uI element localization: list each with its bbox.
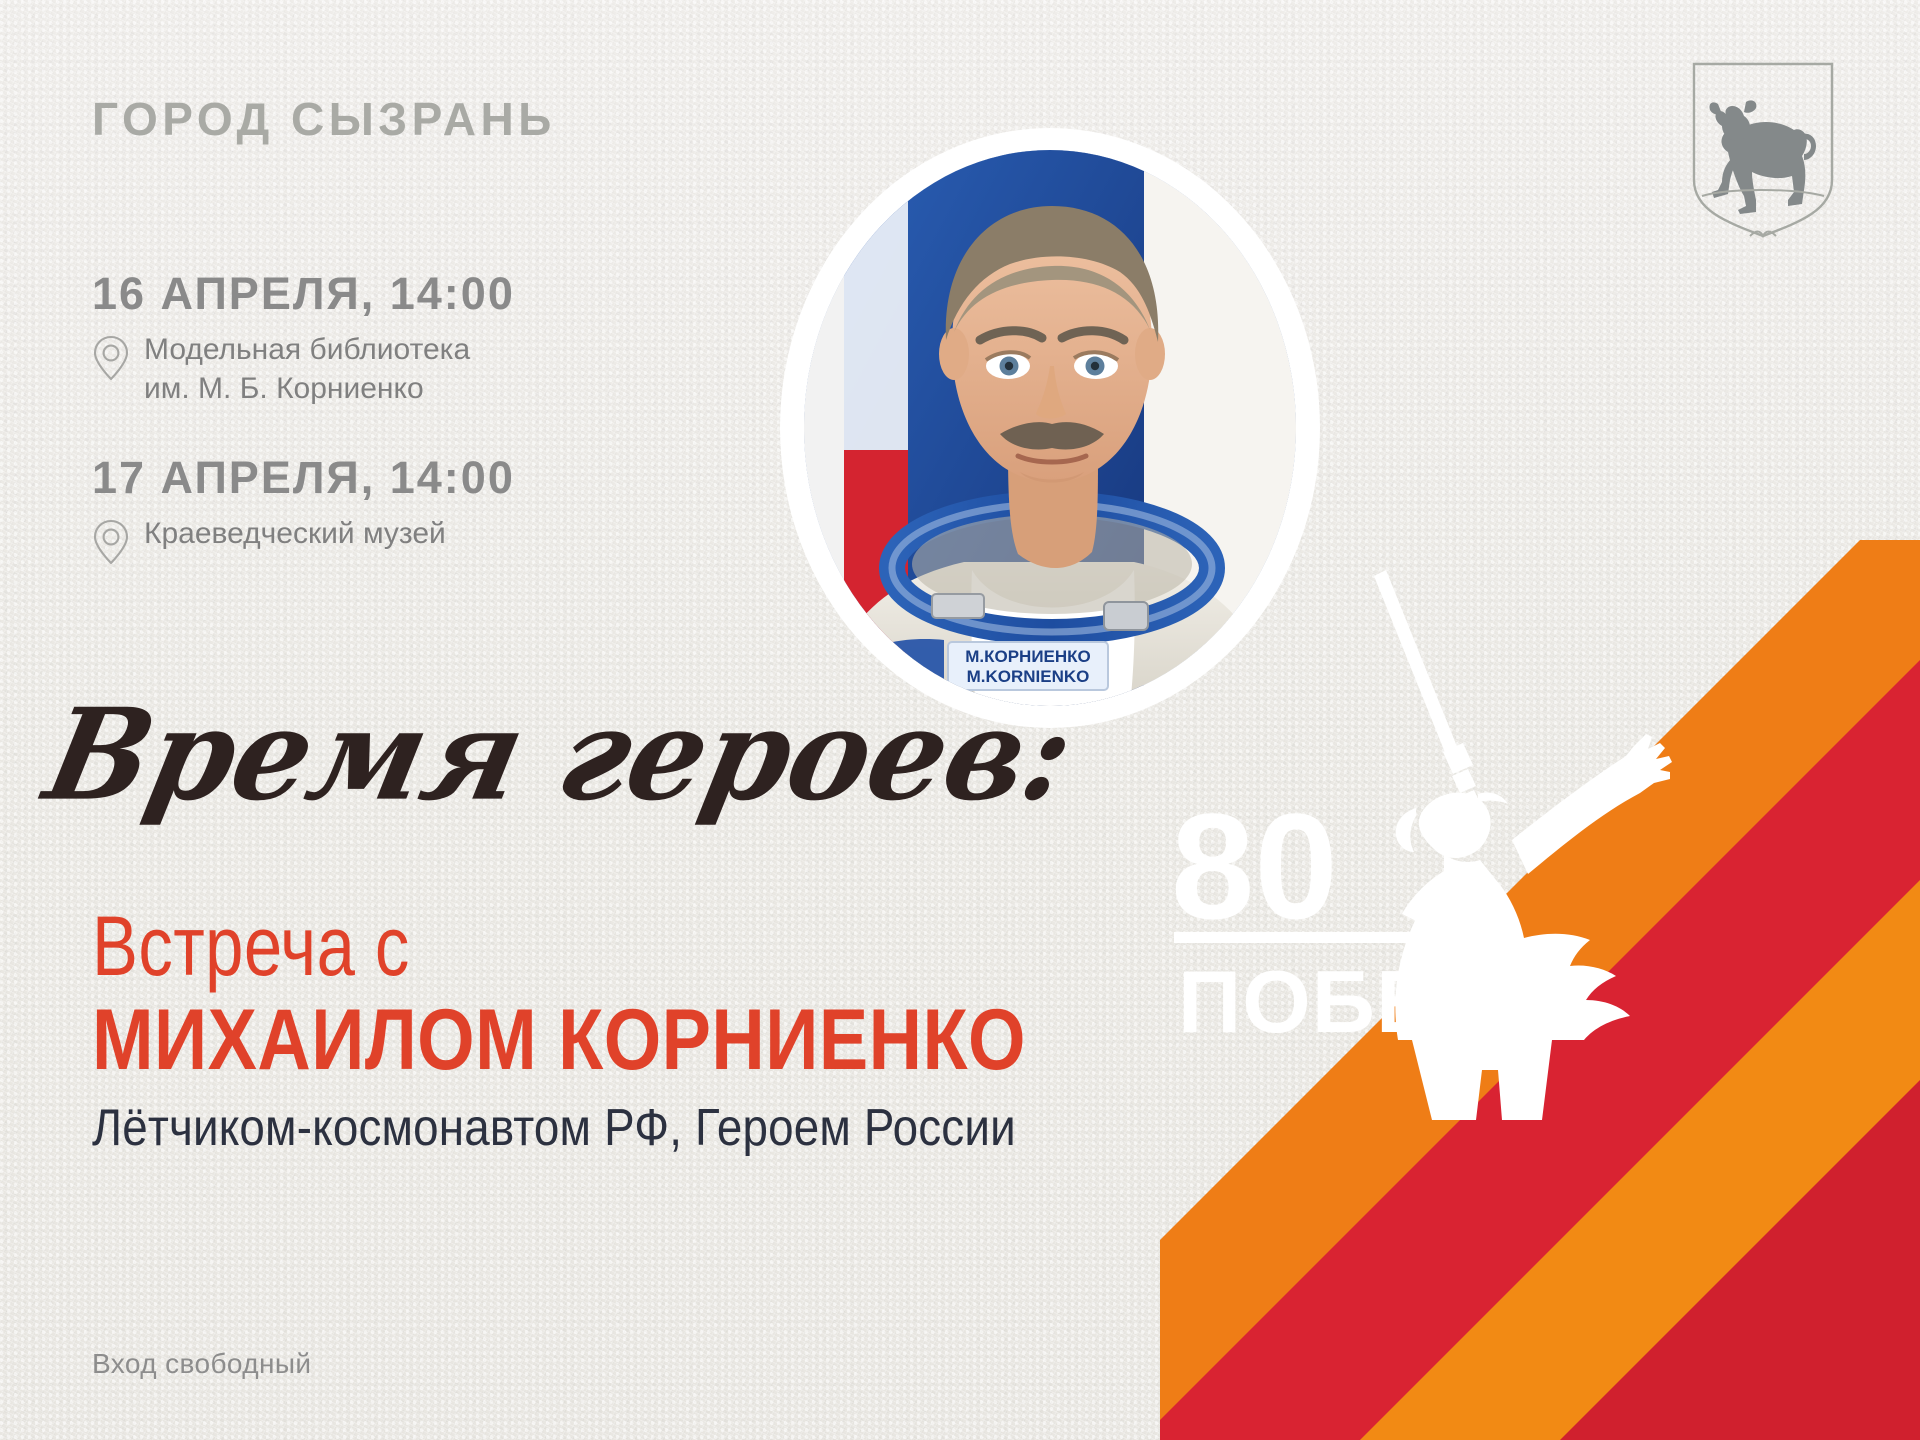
title-subtitle: Лётчиком-космонавтом РФ, Героем России bbox=[92, 1100, 1148, 1157]
free-entry-note: Вход свободный bbox=[92, 1348, 311, 1380]
map-pin-icon bbox=[92, 335, 130, 381]
event-item: 16 АПРЕЛЯ, 14:00 Модельная библиотека им… bbox=[92, 270, 732, 408]
event-date: 17 АПРЕЛЯ, 14:00 bbox=[92, 454, 732, 501]
portrait-illustration: М.КОРНИЕНКО M.KORNIENKO bbox=[804, 150, 1296, 706]
event-item: 17 АПРЕЛЯ, 14:00 Краеведческий музей bbox=[92, 454, 732, 565]
main-title-block: Встреча с МИХАИЛОМ КОРНИЕНКО Лётчиком-ко… bbox=[92, 905, 1292, 1158]
event-list: 16 АПРЕЛЯ, 14:00 Модельная библиотека им… bbox=[92, 270, 732, 603]
event-location: Краеведческий музей bbox=[92, 515, 732, 565]
avatar: М.КОРНИЕНКО M.KORNIENKO bbox=[804, 150, 1296, 706]
crest-svg bbox=[1688, 60, 1838, 240]
event-location: Модельная библиотека им. М. Б. Корниенко bbox=[92, 331, 732, 408]
title-name-line: МИХАИЛОМ КОРНИЕНКО bbox=[92, 995, 1124, 1086]
script-title-svg: Время героев: bbox=[60, 660, 780, 850]
suit-name-badge-line1: М.КОРНИЕНКО bbox=[965, 647, 1091, 666]
page-title-city: ГОРОД СЫЗРАНЬ bbox=[92, 96, 556, 142]
event-date: 16 АПРЕЛЯ, 14:00 bbox=[92, 270, 732, 317]
coat-of-arms-bull-shield bbox=[1688, 60, 1838, 240]
poster-canvas: 80 ПОБЕДА! bbox=[0, 0, 1920, 1440]
portrait-container: М.КОРНИЕНКО M.KORNIENKO bbox=[780, 128, 1320, 728]
bull-figure bbox=[1709, 100, 1816, 214]
suit-name-badge-line2: M.KORNIENKO bbox=[967, 667, 1090, 686]
event-location-text: Модельная библиотека им. М. Б. Корниенко bbox=[144, 331, 470, 408]
title-meet-line: Встреча с bbox=[92, 905, 1076, 987]
script-title: Время героев: bbox=[60, 660, 780, 850]
map-pin-icon bbox=[92, 519, 130, 565]
shield-bottom-flourish bbox=[1750, 232, 1776, 237]
event-location-text: Краеведческий музей bbox=[144, 515, 446, 553]
